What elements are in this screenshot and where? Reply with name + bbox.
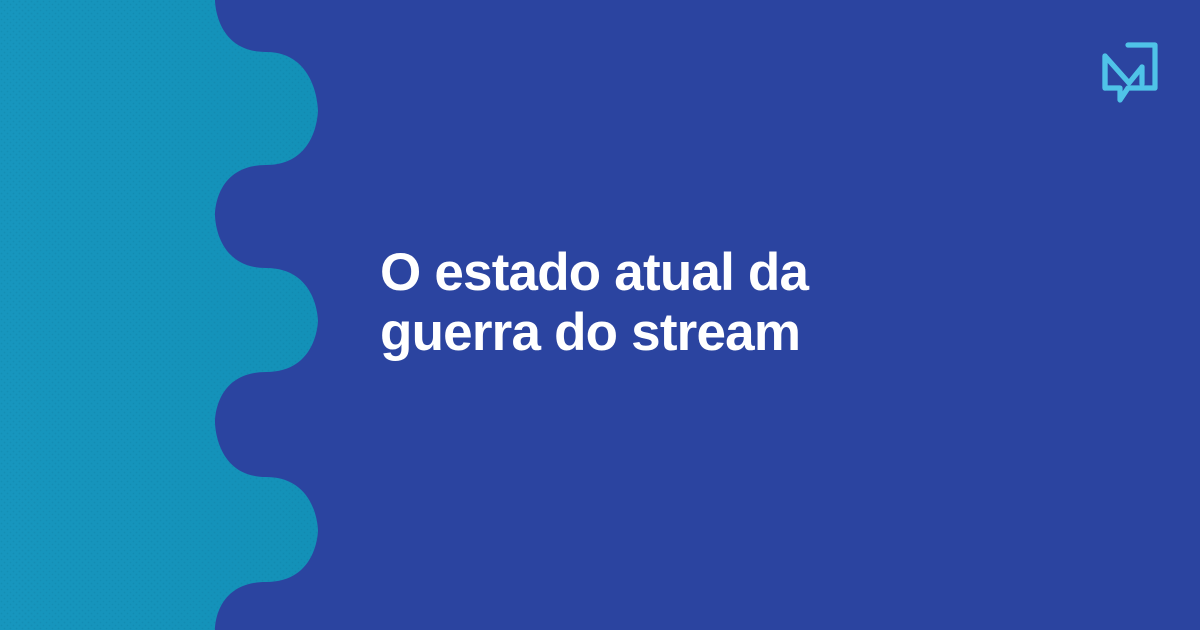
card-headline: O estado atual da guerra do stream (380, 243, 900, 363)
brand-logo[interactable] (1098, 38, 1162, 106)
social-share-card: O estado atual da guerra do stream (0, 0, 1200, 630)
wave-decoration (0, 0, 330, 630)
